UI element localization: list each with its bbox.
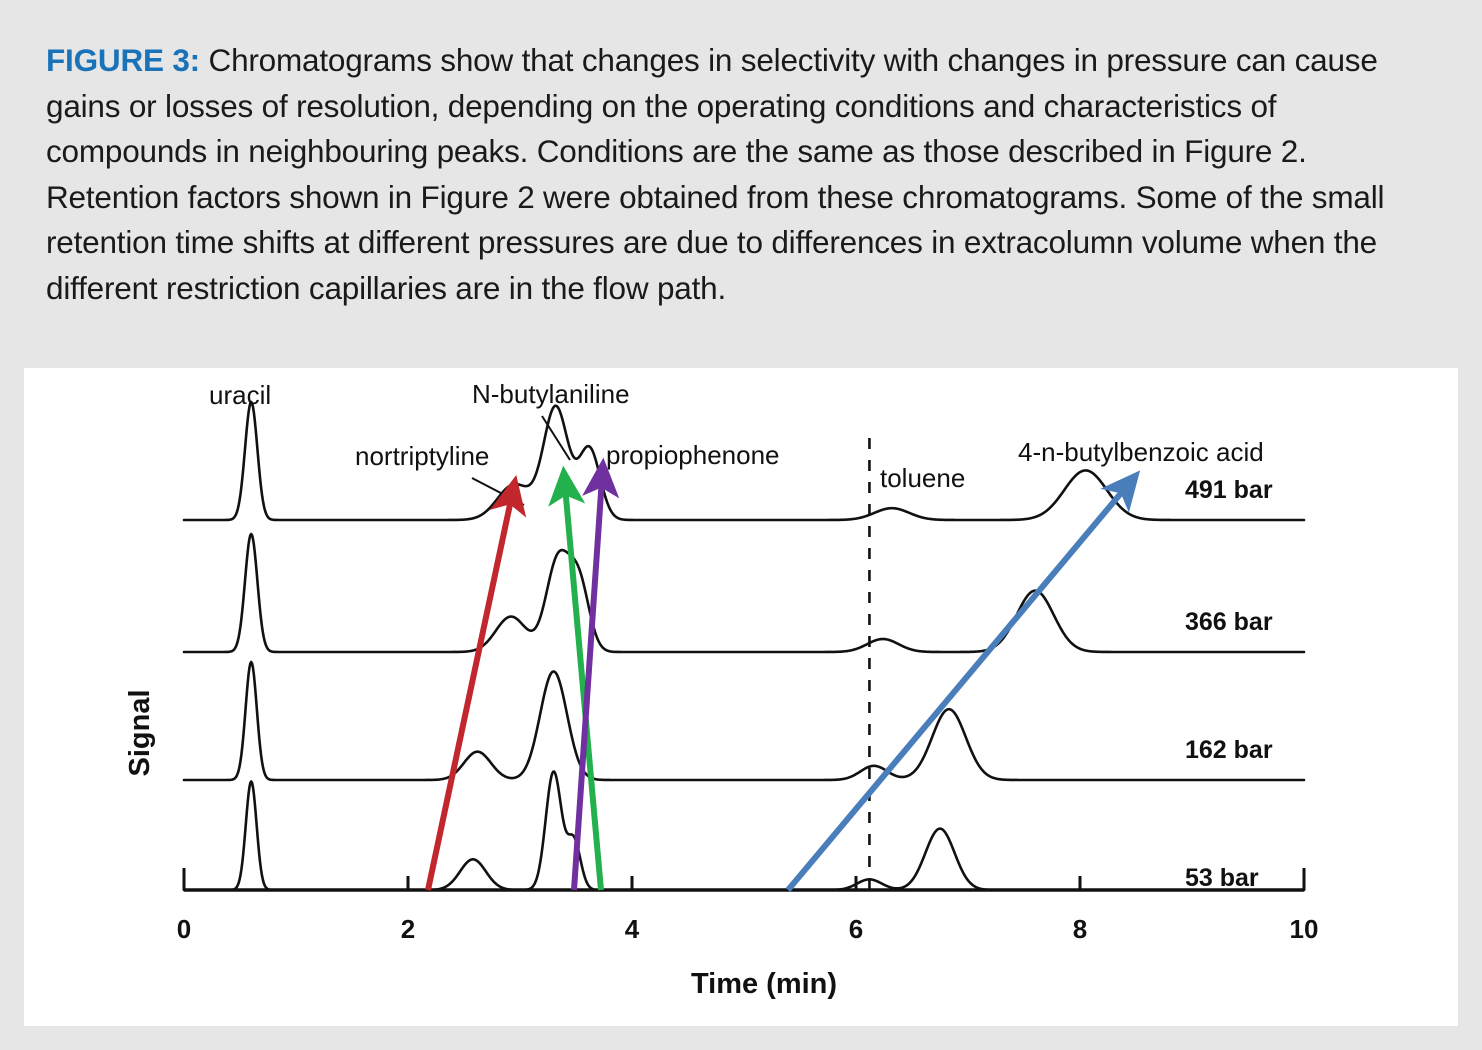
- chromatogram-chart: Signal 0246810 Time (min) 491 bar 366 ba…: [24, 368, 1458, 1026]
- annotation-label-toluene: toluene: [880, 463, 965, 493]
- y-axis-title: Signal: [124, 689, 156, 776]
- chromatogram-trace: [184, 772, 1304, 890]
- annotation-label-propiophenone: propiophenone: [606, 440, 780, 470]
- x-axis-tick-label: 2: [401, 914, 415, 944]
- caption-text: FIGURE 3: Chromatograms show that change…: [46, 38, 1436, 311]
- pressure-label-366: 366 bar: [1185, 608, 1273, 636]
- chromatogram-panel: Signal 0246810 Time (min) 491 bar 366 ba…: [24, 368, 1458, 1026]
- x-axis-tick-label: 8: [1073, 914, 1087, 944]
- x-axis-tick-label: 0: [177, 914, 191, 944]
- annotation-label-butylbenzoic-acid: 4-n-butylbenzoic acid: [1018, 437, 1264, 467]
- x-axis-tick-label: 6: [849, 914, 863, 944]
- pressure-label-53: 53 bar: [1185, 864, 1259, 892]
- x-axis-tick-label: 10: [1290, 914, 1319, 944]
- figure-number-label: FIGURE 3:: [46, 42, 200, 78]
- trace-group: [184, 402, 1304, 890]
- x-axis-tick-label: 4: [625, 914, 640, 944]
- caption-body: Chromatograms show that changes in selec…: [46, 42, 1384, 306]
- annotation-label-n-butylaniline: N-butylaniline: [472, 379, 630, 409]
- pressure-label-491: 491 bar: [1185, 476, 1273, 504]
- chromatogram-trace: [184, 662, 1304, 780]
- annotation-label-nortriptyline: nortriptyline: [355, 441, 489, 471]
- annotation-label-uracil: uracil: [209, 380, 271, 410]
- leader-line-nortriptyline: [472, 478, 524, 505]
- figure-caption: FIGURE 3: Chromatograms show that change…: [0, 0, 1482, 358]
- x-axis: 0246810: [177, 868, 1319, 944]
- arrow-butylbenzoic-acid: [788, 486, 1127, 890]
- figure-root: FIGURE 3: Chromatograms show that change…: [0, 0, 1482, 1050]
- chromatogram-trace: [184, 534, 1304, 652]
- arrow-nortriptyline: [428, 495, 512, 890]
- x-axis-title: Time (min): [691, 968, 837, 1000]
- pressure-label-162: 162 bar: [1185, 736, 1273, 764]
